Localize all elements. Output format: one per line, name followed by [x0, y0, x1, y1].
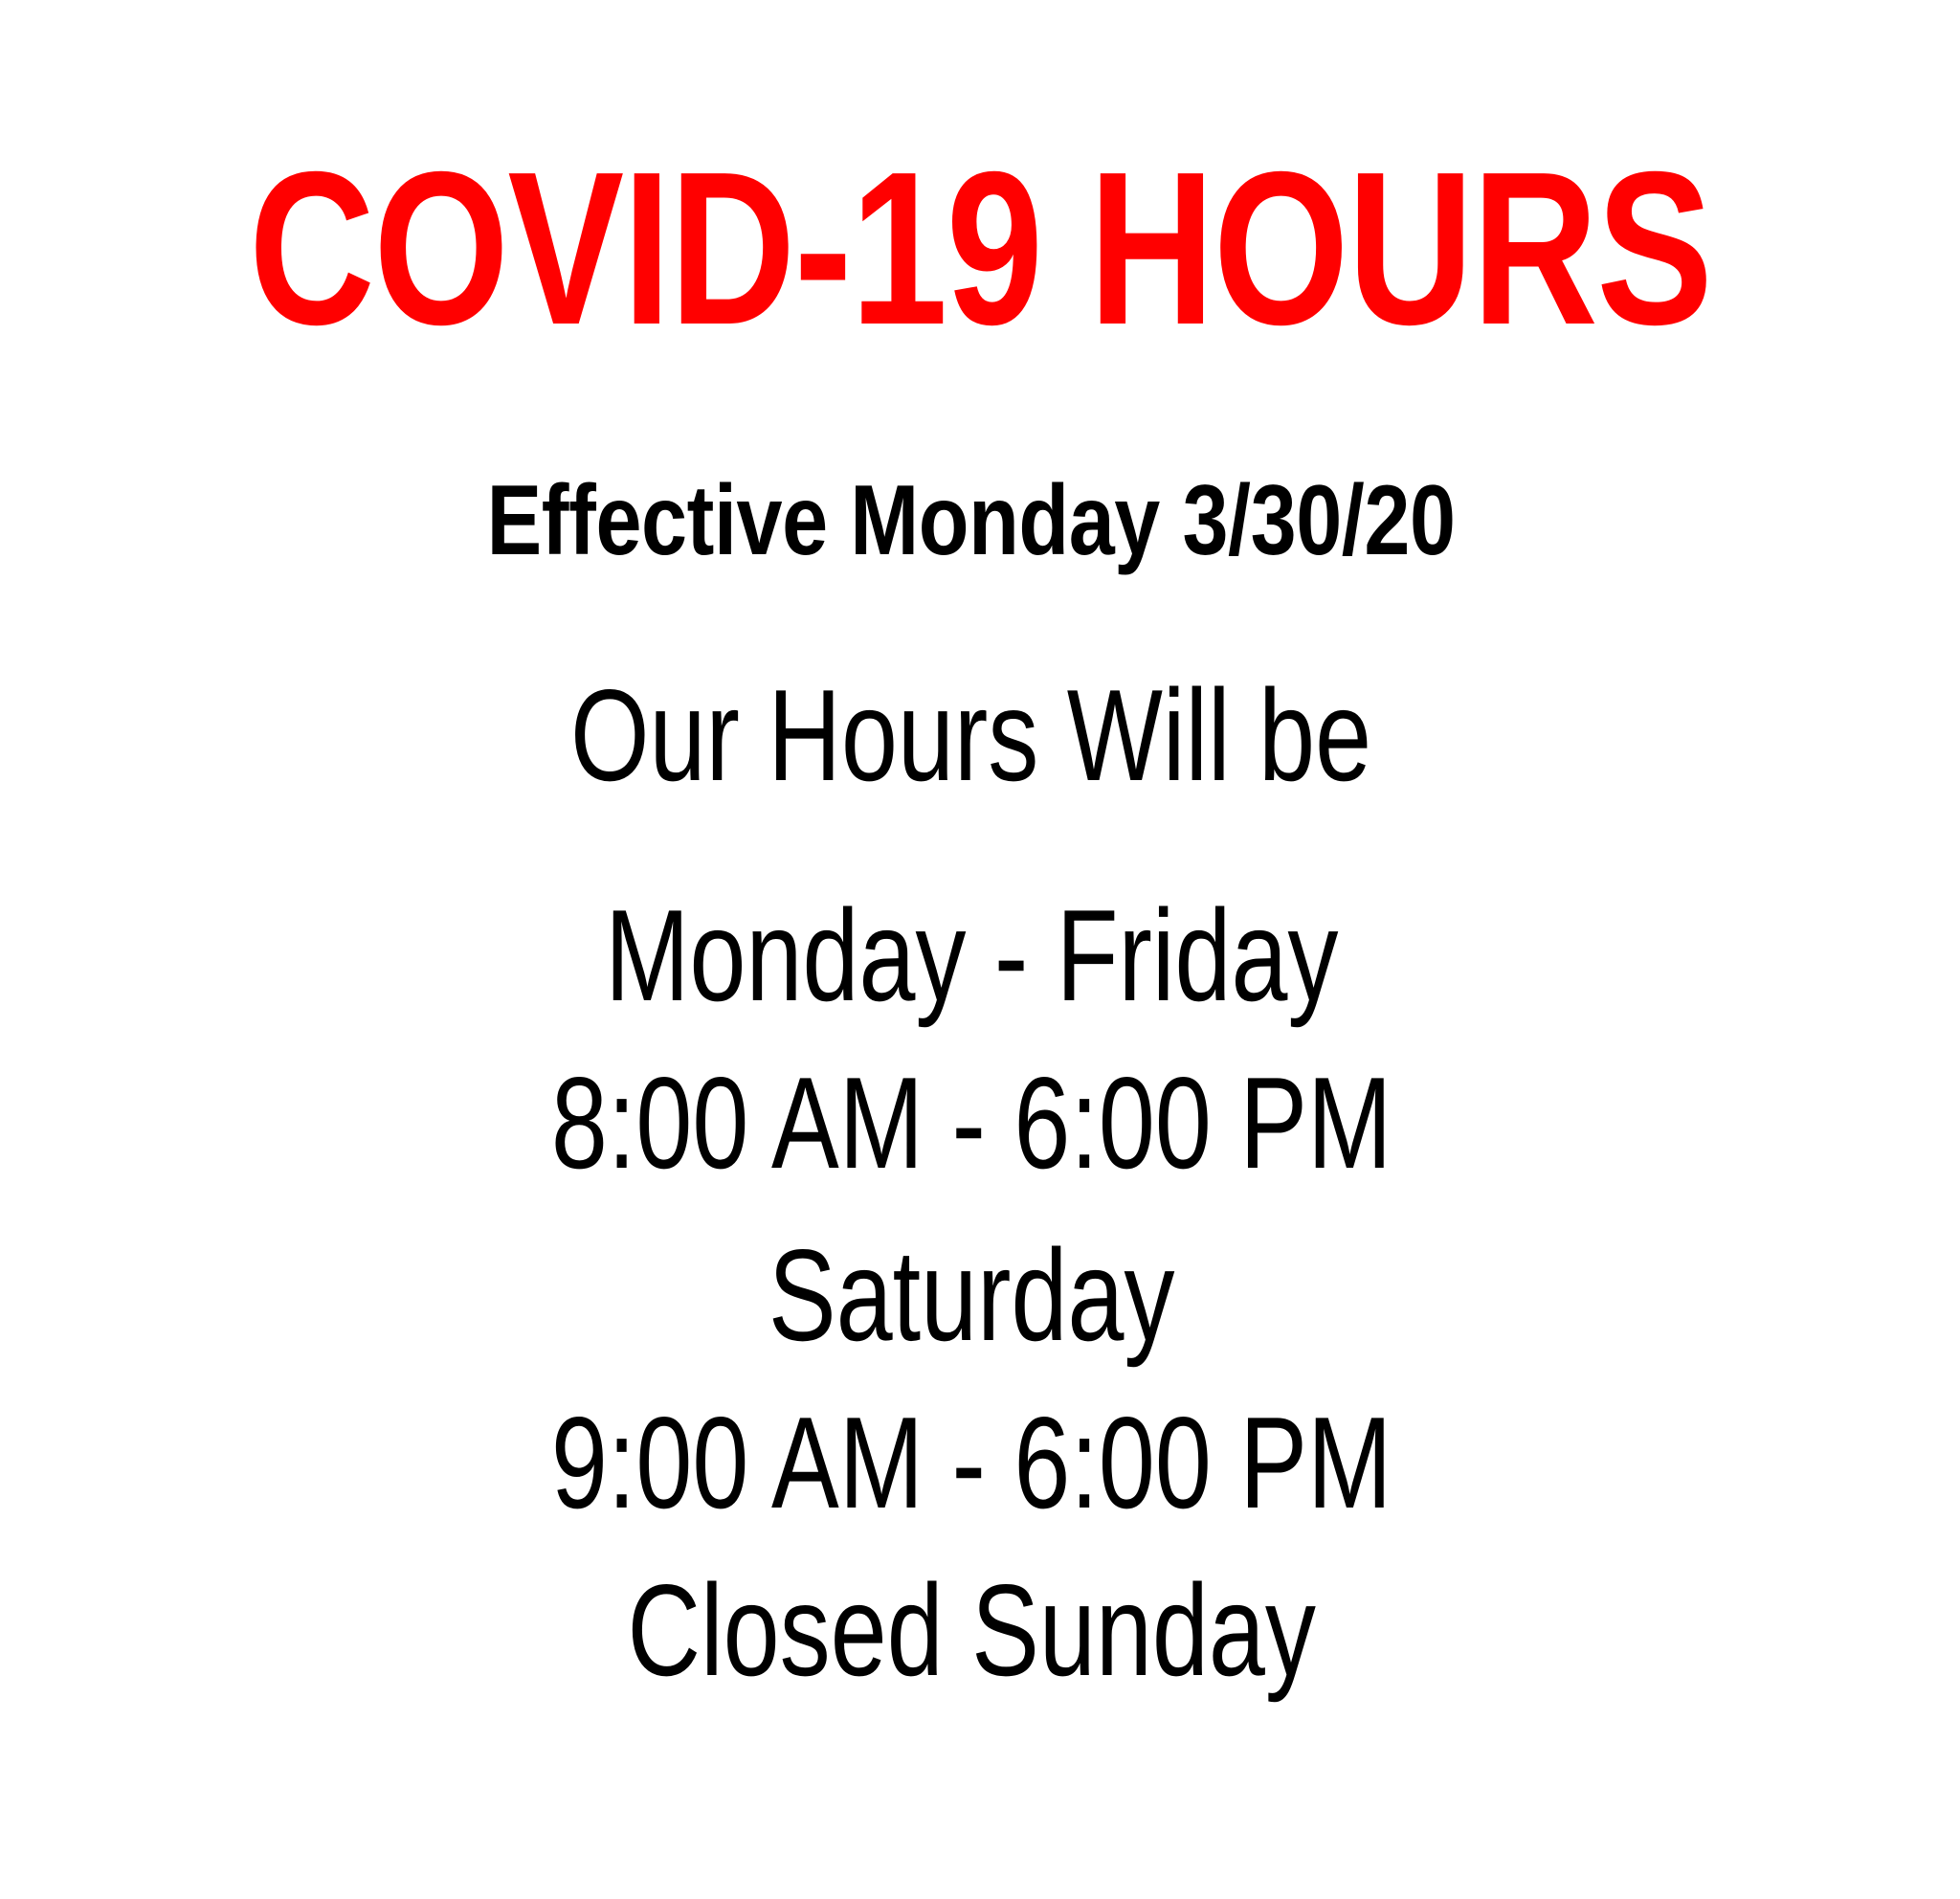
schedule-row-saturday-day: Saturday: [0, 1230, 1943, 1360]
schedule-weekday-hours-text: 8:00 AM - 6:00 PM: [551, 1058, 1392, 1188]
effective-date-text: Effective Monday 3/30/20: [487, 471, 1456, 570]
page-title: COVID-19 HOURS: [0, 140, 1960, 358]
schedule-row-weekday-hours: 8:00 AM - 6:00 PM: [0, 1058, 1943, 1188]
page-title-text: COVID-19 HOURS: [249, 140, 1711, 358]
covid-hours-sign: COVID-19 HOURS Effective Monday 3/30/20 …: [0, 0, 1960, 1899]
hours-intro: Our Hours Will be: [0, 670, 1943, 800]
schedule-weekday-days-text: Monday - Friday: [605, 890, 1338, 1020]
schedule-row-saturday-hours: 9:00 AM - 6:00 PM: [0, 1397, 1943, 1528]
schedule-sunday-closed-text: Closed Sunday: [627, 1565, 1315, 1695]
effective-date-notice: Effective Monday 3/30/20: [0, 471, 1943, 570]
schedule-saturday-day-text: Saturday: [768, 1230, 1175, 1360]
schedule-row-weekday-days: Monday - Friday: [0, 890, 1943, 1020]
hours-intro-text: Our Hours Will be: [570, 670, 1371, 800]
schedule-row-sunday-closed: Closed Sunday: [0, 1565, 1943, 1695]
schedule-saturday-hours-text: 9:00 AM - 6:00 PM: [551, 1397, 1392, 1528]
